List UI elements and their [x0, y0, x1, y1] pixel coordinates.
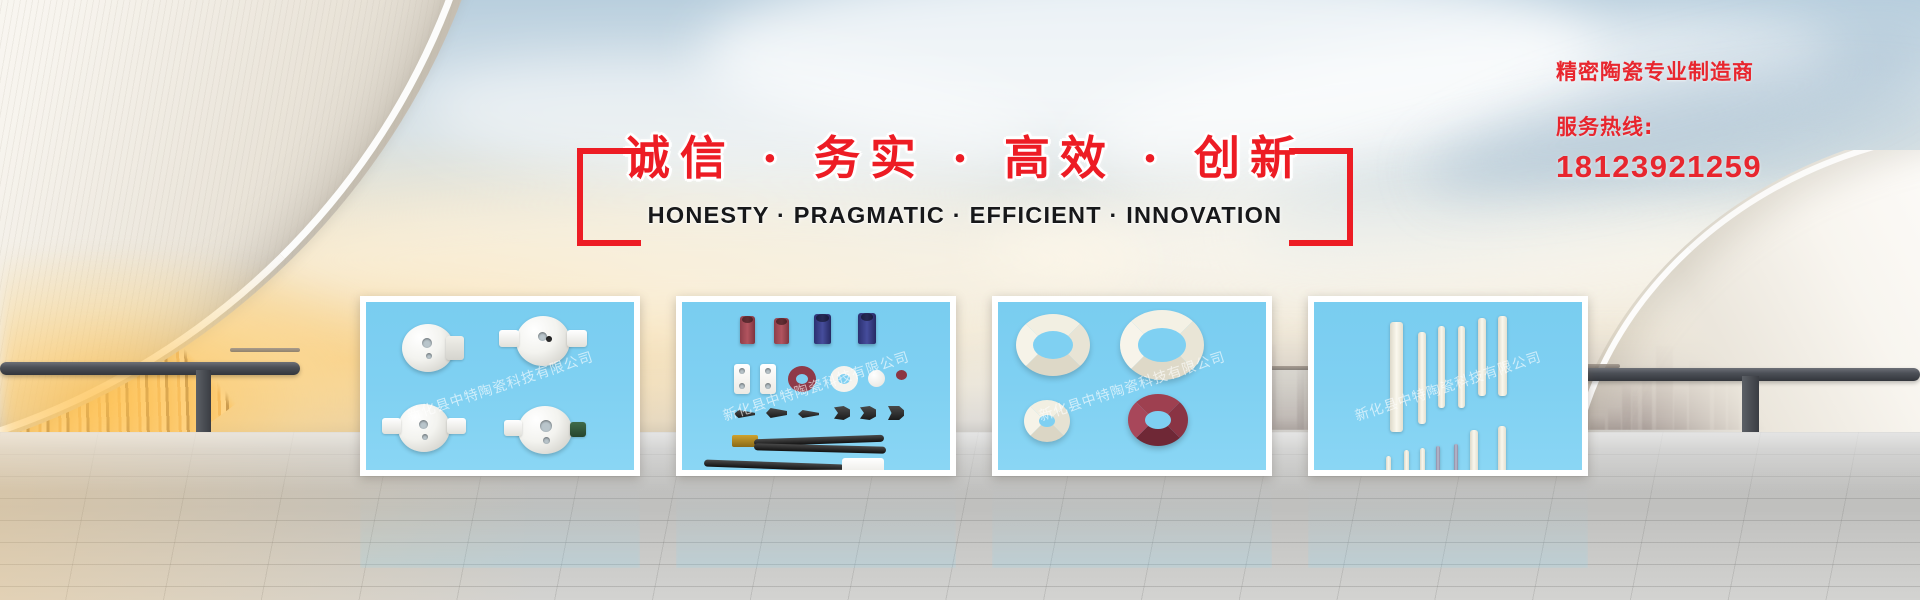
right-curved-architecture	[1540, 150, 1920, 450]
bracket-right-icon	[1289, 148, 1353, 246]
slogan-english: HONESTY · PRAGMATIC · EFFICIENT · INNOVA…	[585, 202, 1345, 229]
bracket-left-icon	[577, 148, 641, 246]
panel-watermark: 新化县中特陶瓷科技有限公司	[1352, 346, 1544, 425]
product-panel-ceramic-rings[interactable]: 新化县中特陶瓷科技有限公司	[992, 296, 1272, 476]
contact-block: 精密陶瓷专业制造商 服务热线: 18123921259	[1556, 60, 1762, 185]
product-panel-ceramic-connectors[interactable]: 新化县中特陶瓷科技有限公司	[676, 296, 956, 476]
hero-banner: 诚信 · 务实 · 高效 · 创新 HONESTY · PRAGMATIC · …	[0, 0, 1920, 600]
hotline-label: 服务热线:	[1556, 111, 1762, 141]
hotline-number[interactable]: 18123921259	[1556, 149, 1762, 185]
slogan-block: 诚信 · 务实 · 高效 · 创新 HONESTY · PRAGMATIC · …	[585, 130, 1345, 229]
product-panel-ceramic-rods[interactable]: 新化县中特陶瓷科技有限公司	[1308, 296, 1588, 476]
product-panel-ceramic-lamp-holders[interactable]: 新化县中特陶瓷科技有限公司	[360, 296, 640, 476]
slogan-chinese: 诚信 · 务实 · 高效 · 创新	[585, 130, 1345, 186]
manufacturer-tagline: 精密陶瓷专业制造商	[1556, 60, 1762, 85]
product-panel-gallery: 新化县中特陶瓷科技有限公司	[360, 296, 1590, 476]
